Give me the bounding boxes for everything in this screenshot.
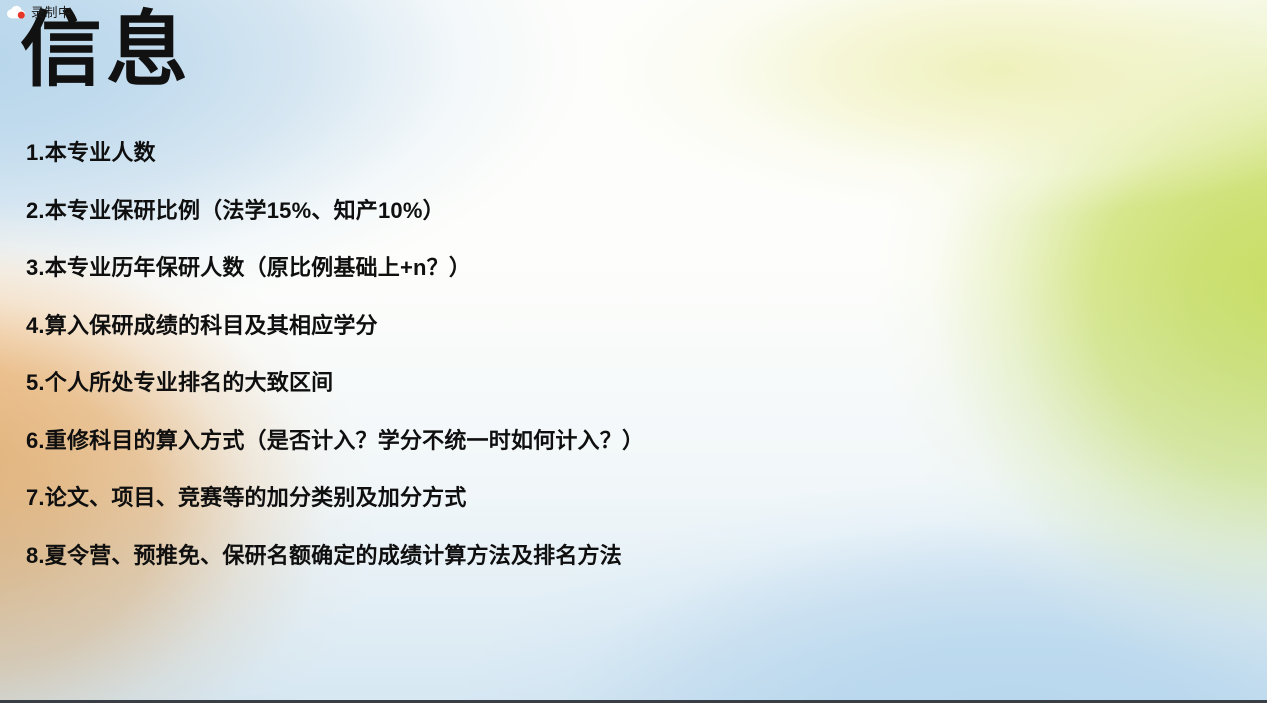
list-item: 4.算入保研成绩的科目及其相应学分 (26, 315, 1227, 373)
list-item: 1.本专业人数 (26, 142, 1227, 200)
recording-indicator[interactable]: 录制中 (6, 4, 72, 20)
page-title: 信息 (20, 8, 192, 94)
list-item: 5.个人所处专业排名的大致区间 (26, 372, 1227, 430)
cloud-record-icon (6, 4, 28, 20)
list-item: 8.夏令营、预推免、保研名额确定的成绩计算方法及排名方法 (26, 545, 1227, 603)
list-item: 2.本专业保研比例（法学15%、知产10%） (26, 200, 1227, 258)
slide-content: 信息 1.本专业人数 2.本专业保研比例（法学15%、知产10%） 3.本专业历… (0, 0, 1267, 700)
list-item: 6.重修科目的算入方式（是否计入？学分不统一时如何计入？） (26, 430, 1227, 488)
list-item: 7.论文、项目、竞赛等的加分类别及加分方式 (26, 487, 1227, 545)
recording-label: 录制中 (31, 6, 72, 19)
list-item: 3.本专业历年保研人数（原比例基础上+n？） (26, 257, 1227, 315)
presentation-slide: 录制中 信息 1.本专业人数 2.本专业保研比例（法学15%、知产10%） 3.… (0, 0, 1267, 703)
bullet-list: 1.本专业人数 2.本专业保研比例（法学15%、知产10%） 3.本专业历年保研… (26, 142, 1227, 602)
